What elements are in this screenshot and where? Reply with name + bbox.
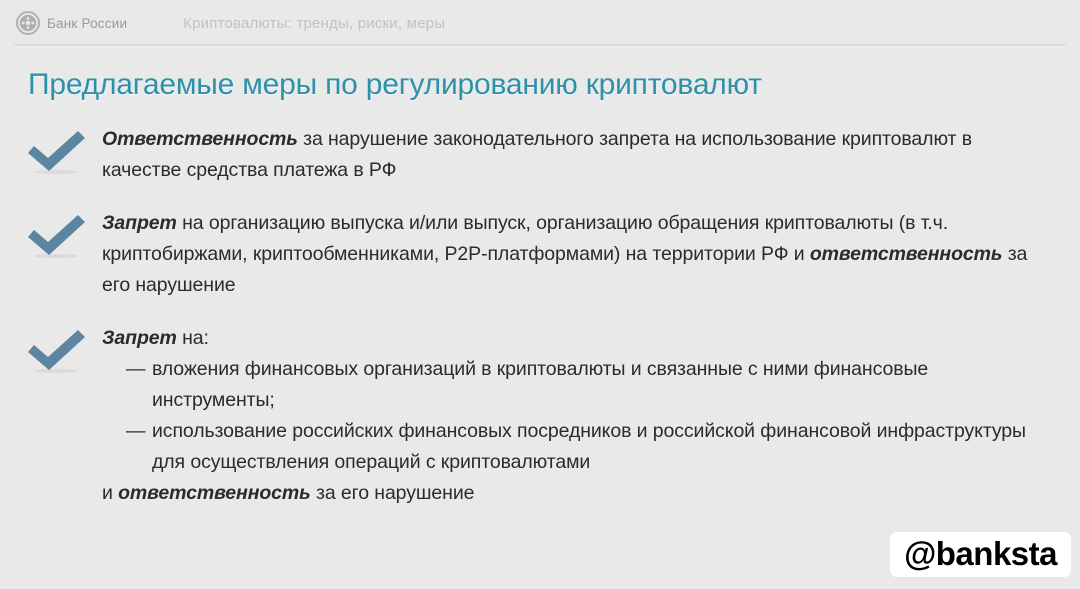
em-dash-icon: — [126, 354, 152, 416]
bullet-lead: Запрет [102, 212, 177, 234]
bullet-text: Запрет на: [102, 323, 1042, 354]
sub-bullet-item: — вложения финансовых организаций в крип… [102, 354, 1042, 416]
brand-name: Банк России [47, 16, 127, 31]
deck-title: Криптовалюты: тренды, риски, меры [183, 15, 445, 32]
bullet-text: Ответственность за нарушение законодател… [102, 124, 1042, 186]
bullet-body: Запрет на организацию выпуска и/или выпу… [102, 208, 1042, 301]
bullet-lead: Ответственность [102, 128, 298, 150]
bullet-body: Запрет на: — вложения финансовых организ… [102, 323, 1042, 509]
bullet-item: Ответственность за нарушение законодател… [0, 124, 1080, 186]
bullet-tail-line: и ответственность за его нарушение [102, 478, 1042, 509]
tail-pre: и [102, 482, 118, 504]
sub-bullet-text: вложения финансовых организаций в крипто… [152, 354, 1032, 416]
watermark-banksta: @banksta [890, 532, 1071, 577]
sub-bullet-item: — использование российских финансовых по… [102, 416, 1042, 478]
em-dash-icon: — [126, 416, 152, 478]
sub-bullet-text: использование российских финансовых поср… [152, 416, 1032, 478]
bullet-item: Запрет на организацию выпуска и/или выпу… [0, 208, 1080, 301]
bullet-text: Запрет на организацию выпуска и/или выпу… [102, 208, 1042, 301]
slide-header: Банк России Криптовалюты: тренды, риски,… [0, 0, 1080, 46]
bank-of-russia-emblem-icon [16, 11, 40, 35]
tail-bold: ответственность [118, 482, 311, 504]
bullet-lead-secondary: ответственность [810, 243, 1003, 265]
bullet-item: Запрет на: — вложения финансовых организ… [0, 323, 1080, 509]
header-divider [14, 44, 1066, 47]
bullet-list: Ответственность за нарушение законодател… [0, 124, 1080, 509]
page-title: Предлагаемые меры по регулированию крипт… [28, 68, 762, 102]
slide-canvas: Банк России Криптовалюты: тренды, риски,… [0, 0, 1080, 589]
bullet-lead: Запрет [102, 327, 177, 349]
bullet-body: Ответственность за нарушение законодател… [102, 124, 1042, 186]
check-mark-icon [24, 128, 90, 174]
brand-block: Банк России [16, 11, 127, 35]
check-mark-icon [24, 327, 90, 373]
sub-bullet-list: — вложения финансовых организаций в крип… [102, 354, 1042, 478]
check-mark-icon [24, 212, 90, 258]
bullet-rest: на: [177, 327, 209, 349]
tail-post: за его нарушение [311, 482, 475, 504]
